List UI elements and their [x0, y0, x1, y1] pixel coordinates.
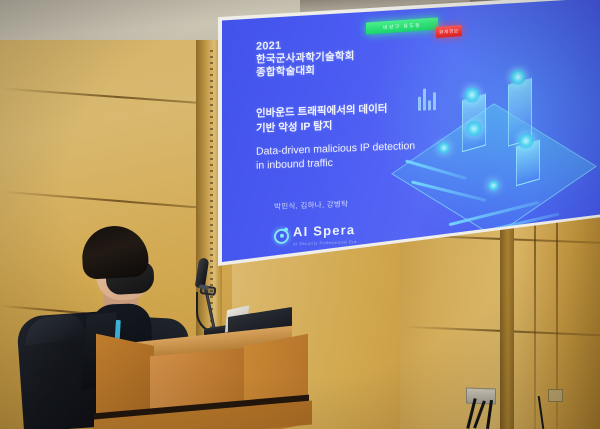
- logo-name: AI Spera: [293, 222, 355, 239]
- spera-target-icon: [274, 228, 289, 244]
- presentation-photo-scene: 2021 한국군사과학기술학회 종합학술대회 인바운드 트래픽에서의 데이터 기…: [0, 0, 600, 429]
- ai-spera-logo: AI Spera AI Security Professional Era: [274, 221, 357, 248]
- logo-tagline: AI Security Professional Era: [293, 239, 357, 247]
- slide-conference-header: 2021 한국군사과학기술학회 종합학술대회: [256, 37, 355, 80]
- conference-name-line2: 종합학술대회: [256, 63, 355, 80]
- iso-platform: [391, 103, 597, 237]
- fire-alarm-panel: 화재경보: [436, 25, 462, 38]
- logo-text-block: AI Spera AI Security Professional Era: [293, 221, 357, 247]
- slide-authors: 박민식, 김하나, 강병탁: [274, 198, 348, 212]
- slide-network-graphic: [404, 44, 594, 241]
- alarm-panel-text: 화재경보: [439, 28, 459, 35]
- wall-outlet: [548, 389, 563, 402]
- exit-sign-text: 비상구 유도등: [383, 21, 421, 31]
- hair: [81, 224, 150, 279]
- bar-chart-icon: [418, 88, 436, 111]
